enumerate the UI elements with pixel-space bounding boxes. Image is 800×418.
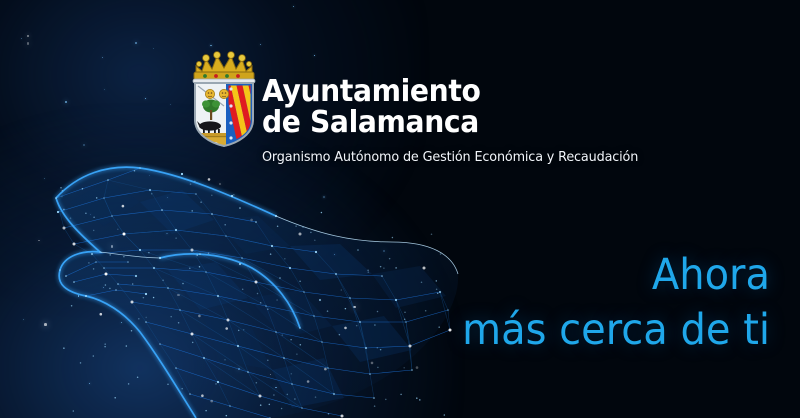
org-title-line-1: Ayuntamiento [262,76,480,107]
salamanca-banner: Ayuntamiento de Salamanca Organismo Autó… [0,0,800,418]
tagline-line-1: Ahora [379,248,770,303]
tagline-line-2: más cerca de ti [379,303,770,358]
wordmark: Ayuntamiento de Salamanca [262,76,494,138]
org-title-line-2: de Salamanca [262,107,480,138]
tagline: Ahora más cerca de ti [379,248,770,358]
logo-block: Ayuntamiento de Salamanca Organismo Autó… [186,44,666,172]
org-subtitle: Organismo Autónomo de Gestión Económica … [262,150,638,165]
coat-of-arms-of-salamanca-icon [186,44,262,148]
